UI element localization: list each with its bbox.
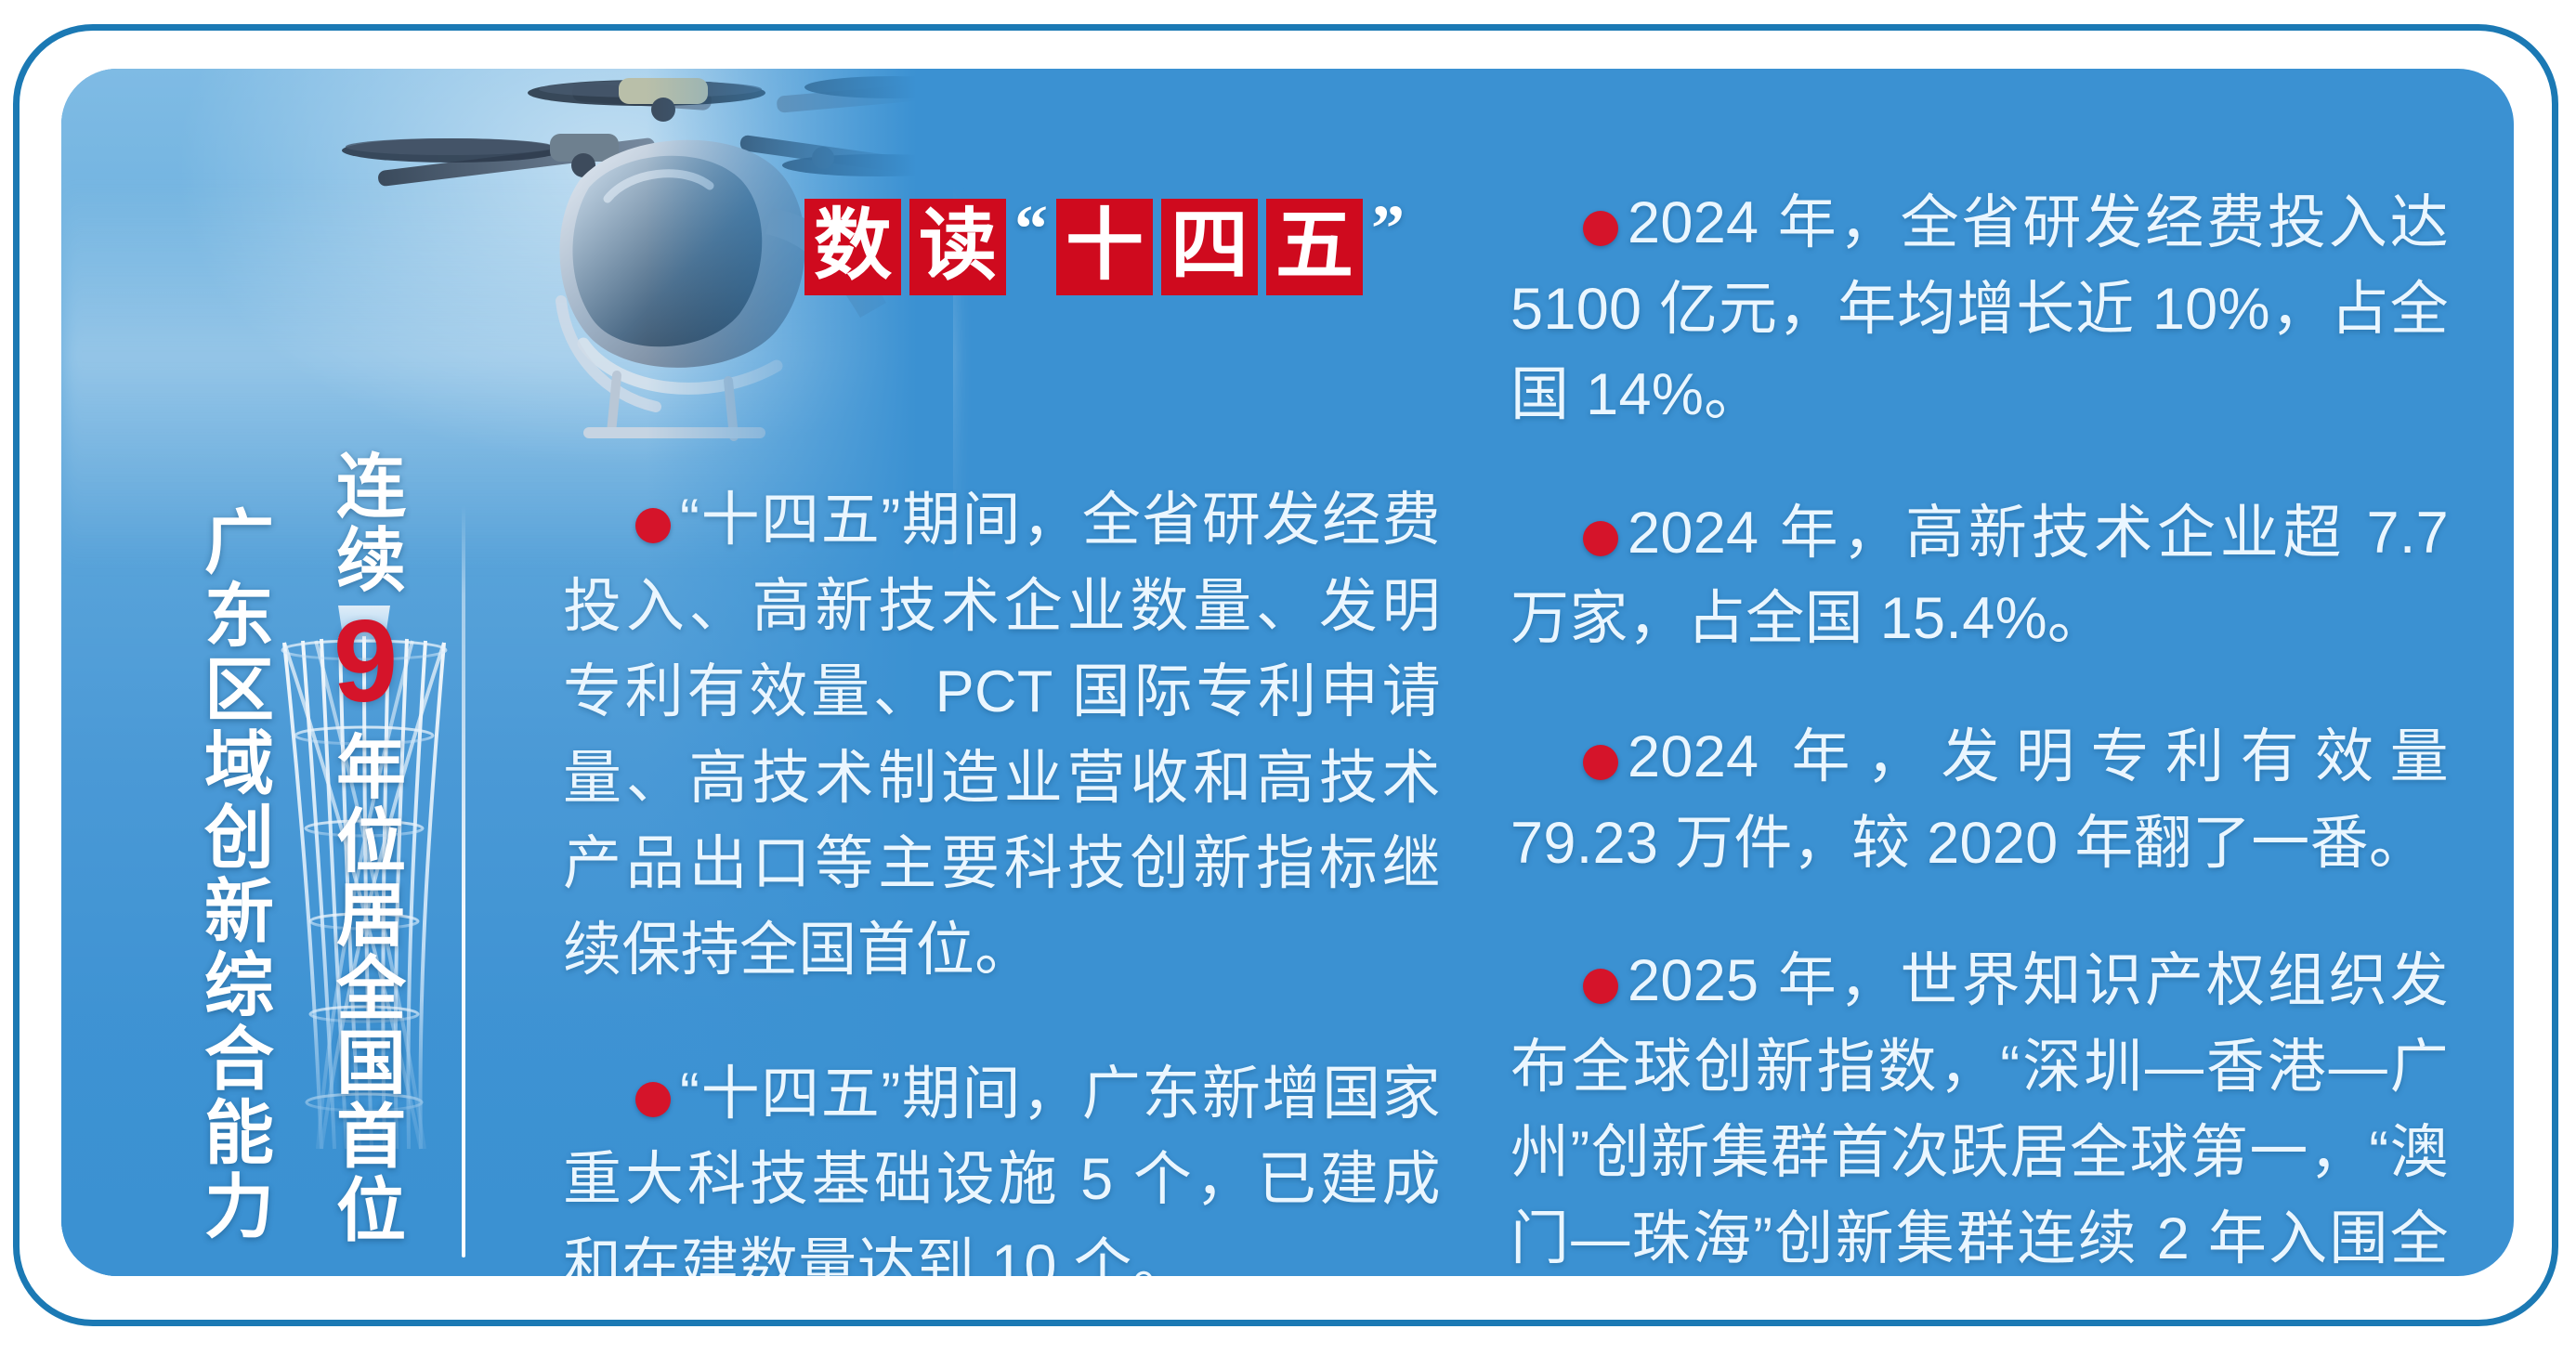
left-paragraph-1: “十四五”期间，全省研发经费投入、高新技术企业数量、发明专利有效量、PCT 国际…	[563, 477, 1441, 994]
title-tile-5: 五	[1266, 199, 1363, 295]
left-text-column: “十四五”期间，全省研发经费投入、高新技术企业数量、发明专利有效量、PCT 国际…	[563, 477, 1441, 1276]
title-tile-4: 四	[1161, 199, 1258, 295]
bullet-dot-icon	[1583, 211, 1618, 246]
right-paragraph-2-text: 2024 年，高新技术企业超 7.7 万家，占全国 15.4%。	[1510, 501, 2449, 652]
title-quote-close: ”	[1371, 195, 1405, 262]
vertical-headline-rank: 连续9年位居全国首位	[312, 449, 419, 1247]
right-paragraph-2: 2024 年，高新技术企业超 7.7 万家，占全国 15.4%。	[1510, 490, 2449, 662]
title-tile-1: 数	[804, 199, 901, 295]
title-tile-3: 十	[1056, 199, 1153, 295]
title-tile-2: 读	[909, 199, 1006, 295]
right-paragraph-4-text: 2025 年，世界知识产权组织发布全球创新指数，“深圳—香港—广州”创新集群首次…	[1510, 948, 2449, 1276]
rank-number: 9	[301, 597, 430, 731]
left-paragraph-2-text: “十四五”期间，广东新增国家重大科技基础设施 5 个，已建成和在建数量达到 10…	[563, 1062, 1441, 1276]
bullet-dot-icon	[635, 1082, 671, 1117]
bullet-dot-icon	[1583, 745, 1618, 780]
vertical-headline-capability: 广东区域创新综合能力	[197, 505, 269, 1244]
bullet-dot-icon	[1583, 969, 1618, 1004]
poster-title: 数 读 “ 十 四 五 ”	[804, 199, 1405, 295]
left-paragraph-1-text: “十四五”期间，全省研发经费投入、高新技术企业数量、发明专利有效量、PCT 国际…	[563, 488, 1441, 983]
bullet-dot-icon	[635, 508, 671, 543]
right-paragraph-1: 2024 年，全省研发经费投入达 5100 亿元，年均增长近 10%，占全国 1…	[1510, 180, 2449, 438]
right-paragraph-3: 2024 年，发明专利有效量 79.23 万件，较 2020 年翻了一番。	[1510, 714, 2449, 886]
rank-prefix: 连续	[326, 449, 404, 597]
rank-suffix: 年位居全国首位	[326, 731, 404, 1248]
left-paragraph-2: “十四五”期间，广东新增国家重大科技基础设施 5 个，已建成和在建数量达到 10…	[563, 1051, 1441, 1276]
right-paragraph-4: 2025 年，世界知识产权组织发布全球创新指数，“深圳—香港—广州”创新集群首次…	[1510, 938, 2449, 1276]
poster-panel: 广东区域创新综合能力 连续9年位居全国首位 数 读 “ 十 四 五 ” “十四五…	[61, 69, 2514, 1276]
title-quote-open: “	[1014, 195, 1048, 262]
column-divider	[462, 505, 465, 1257]
right-paragraph-3-text: 2024 年，发明专利有效量 79.23 万件，较 2020 年翻了一番。	[1510, 724, 2449, 876]
bullet-dot-icon	[1583, 521, 1618, 556]
right-text-column: 2024 年，全省研发经费投入达 5100 亿元，年均增长近 10%，占全国 1…	[1510, 180, 2449, 1276]
right-paragraph-1-text: 2024 年，全省研发经费投入达 5100 亿元，年均增长近 10%，占全国 1…	[1510, 190, 2449, 427]
